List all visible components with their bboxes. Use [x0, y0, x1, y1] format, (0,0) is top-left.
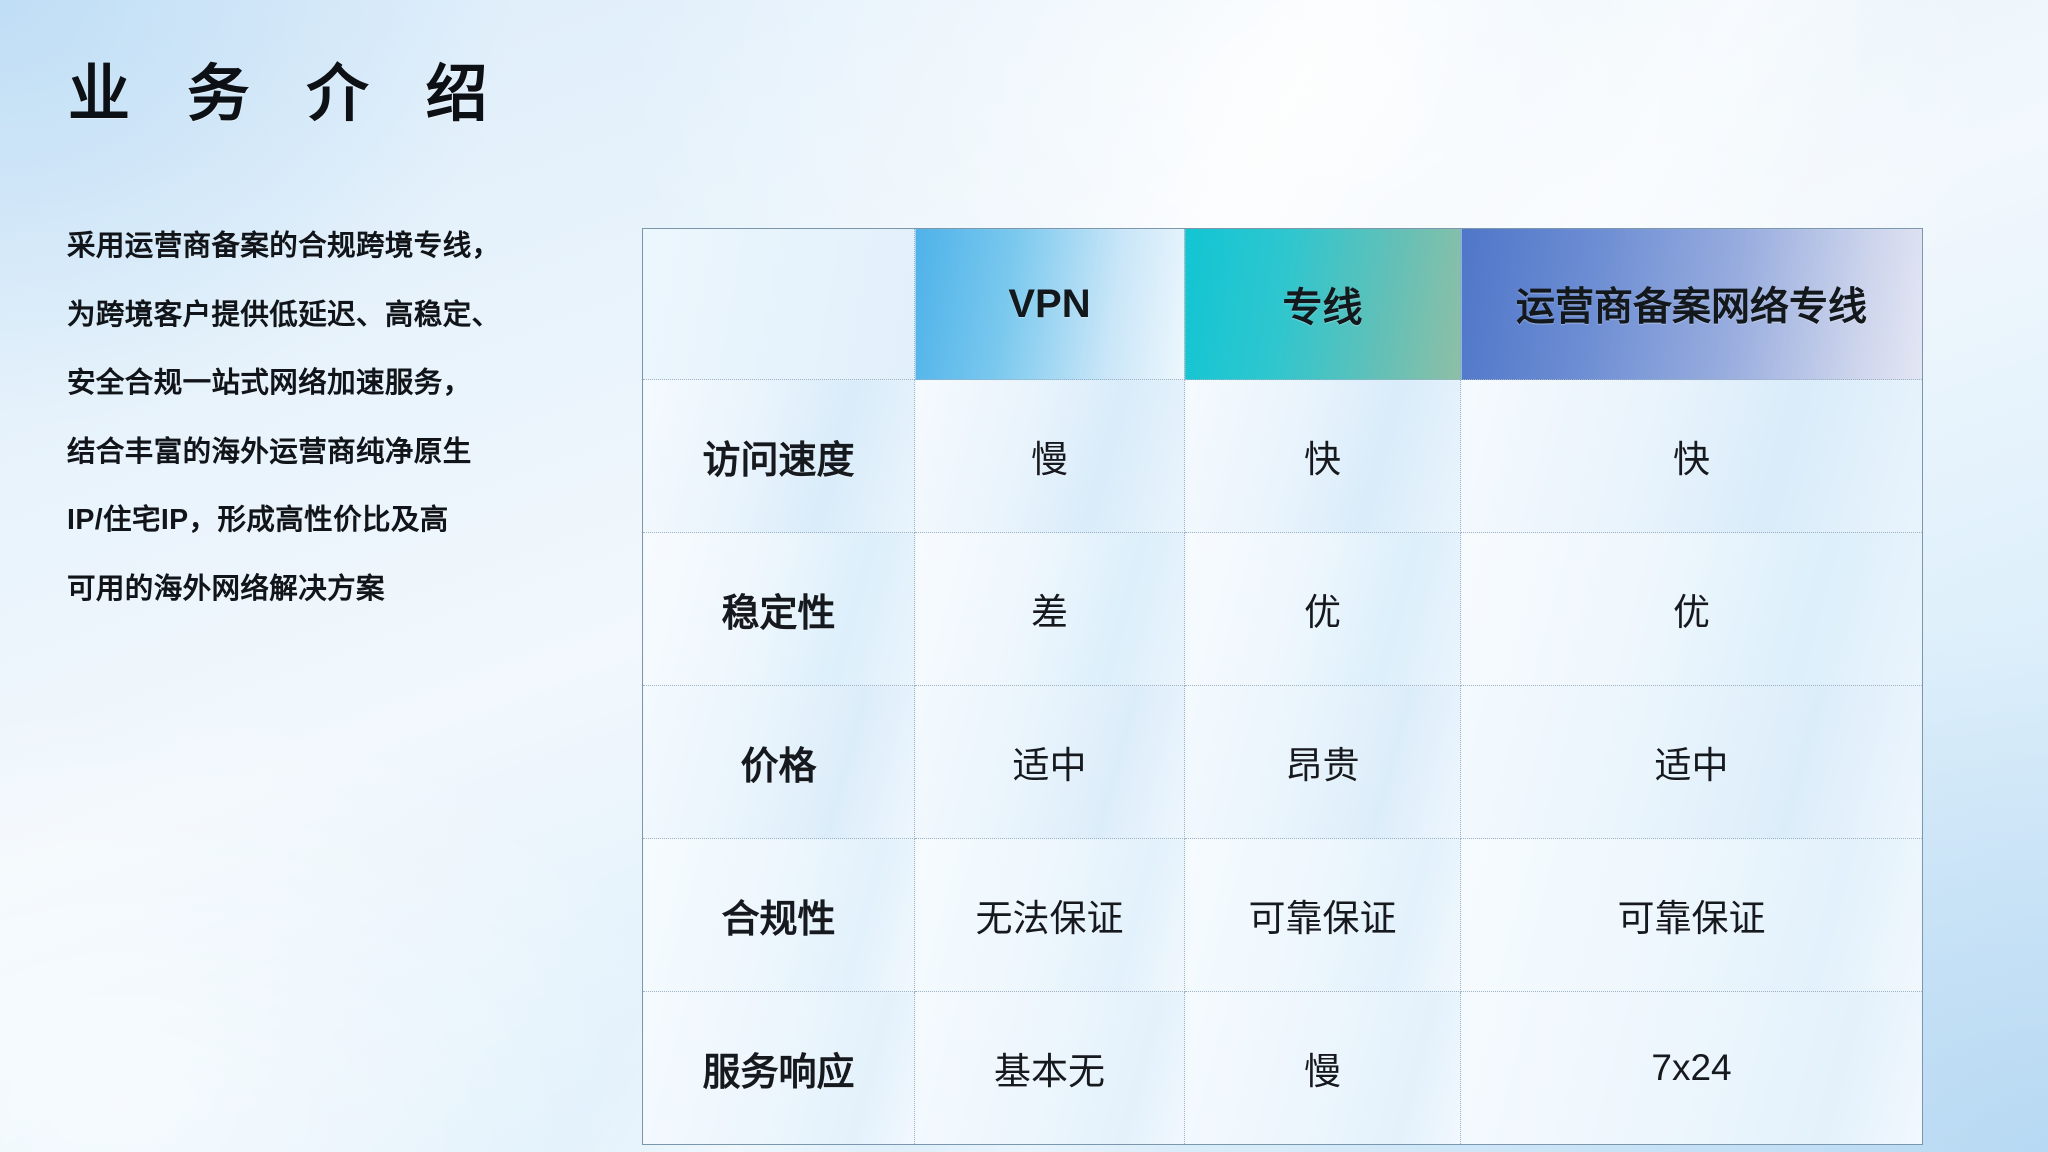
intro-line: IP/住宅IP，形成高性价比及高	[67, 506, 627, 535]
table-row: 访问速度 慢 快 快	[643, 380, 1923, 533]
cell-vpn: 适中	[915, 686, 1185, 839]
intro-line: 采用运营商备案的合规跨境专线，	[67, 232, 627, 261]
column-header-line: 专线	[1185, 229, 1461, 380]
column-header-vpn: VPN	[915, 229, 1185, 380]
table-row: 价格 适中 昂贵 适中	[643, 686, 1923, 839]
table-header: VPN 专线 运营商备案网络专线	[643, 229, 1923, 380]
row-label: 稳定性	[643, 533, 915, 686]
cell-line: 优	[1185, 533, 1461, 686]
cell-carrier: 快	[1461, 380, 1923, 533]
cell-vpn: 差	[915, 533, 1185, 686]
table-header-row: VPN 专线 运营商备案网络专线	[643, 229, 1923, 380]
intro-line: 可用的海外网络解决方案	[67, 575, 627, 604]
intro-line: 安全合规一站式网络加速服务，	[67, 369, 627, 398]
cell-line: 可靠保证	[1185, 839, 1461, 992]
cell-line: 慢	[1185, 992, 1461, 1145]
cell-line: 昂贵	[1185, 686, 1461, 839]
cell-line: 快	[1185, 380, 1461, 533]
table-row: 合规性 无法保证 可靠保证 可靠保证	[643, 839, 1923, 992]
table-row: 稳定性 差 优 优	[643, 533, 1923, 686]
column-header-blank	[643, 229, 915, 380]
table-row: 服务响应 基本无 慢 7x24	[643, 992, 1923, 1145]
row-label: 价格	[643, 686, 915, 839]
cell-vpn: 基本无	[915, 992, 1185, 1145]
row-label: 访问速度	[643, 380, 915, 533]
row-label: 服务响应	[643, 992, 915, 1145]
cell-vpn: 无法保证	[915, 839, 1185, 992]
cell-vpn: 慢	[915, 380, 1185, 533]
row-label: 合规性	[643, 839, 915, 992]
column-header-carrier: 运营商备案网络专线	[1461, 229, 1923, 380]
intro-line: 结合丰富的海外运营商纯净原生	[67, 438, 627, 467]
cell-carrier: 优	[1461, 533, 1923, 686]
table-body: 访问速度 慢 快 快 稳定性 差 优 优 价格 适中 昂贵 适中 合规性 无法保…	[643, 380, 1923, 1145]
intro-line: 为跨境客户提供低延迟、高稳定、	[67, 301, 627, 330]
cell-carrier: 7x24	[1461, 992, 1923, 1145]
comparison-table: VPN 专线 运营商备案网络专线 访问速度 慢 快 快 稳定性 差 优 优 价格…	[642, 228, 1923, 1145]
page-title: 业 务 介 绍	[68, 62, 508, 127]
intro-paragraph: 采用运营商备案的合规跨境专线， 为跨境客户提供低延迟、高稳定、 安全合规一站式网…	[67, 232, 627, 603]
cell-carrier: 可靠保证	[1461, 839, 1923, 992]
cell-carrier: 适中	[1461, 686, 1923, 839]
